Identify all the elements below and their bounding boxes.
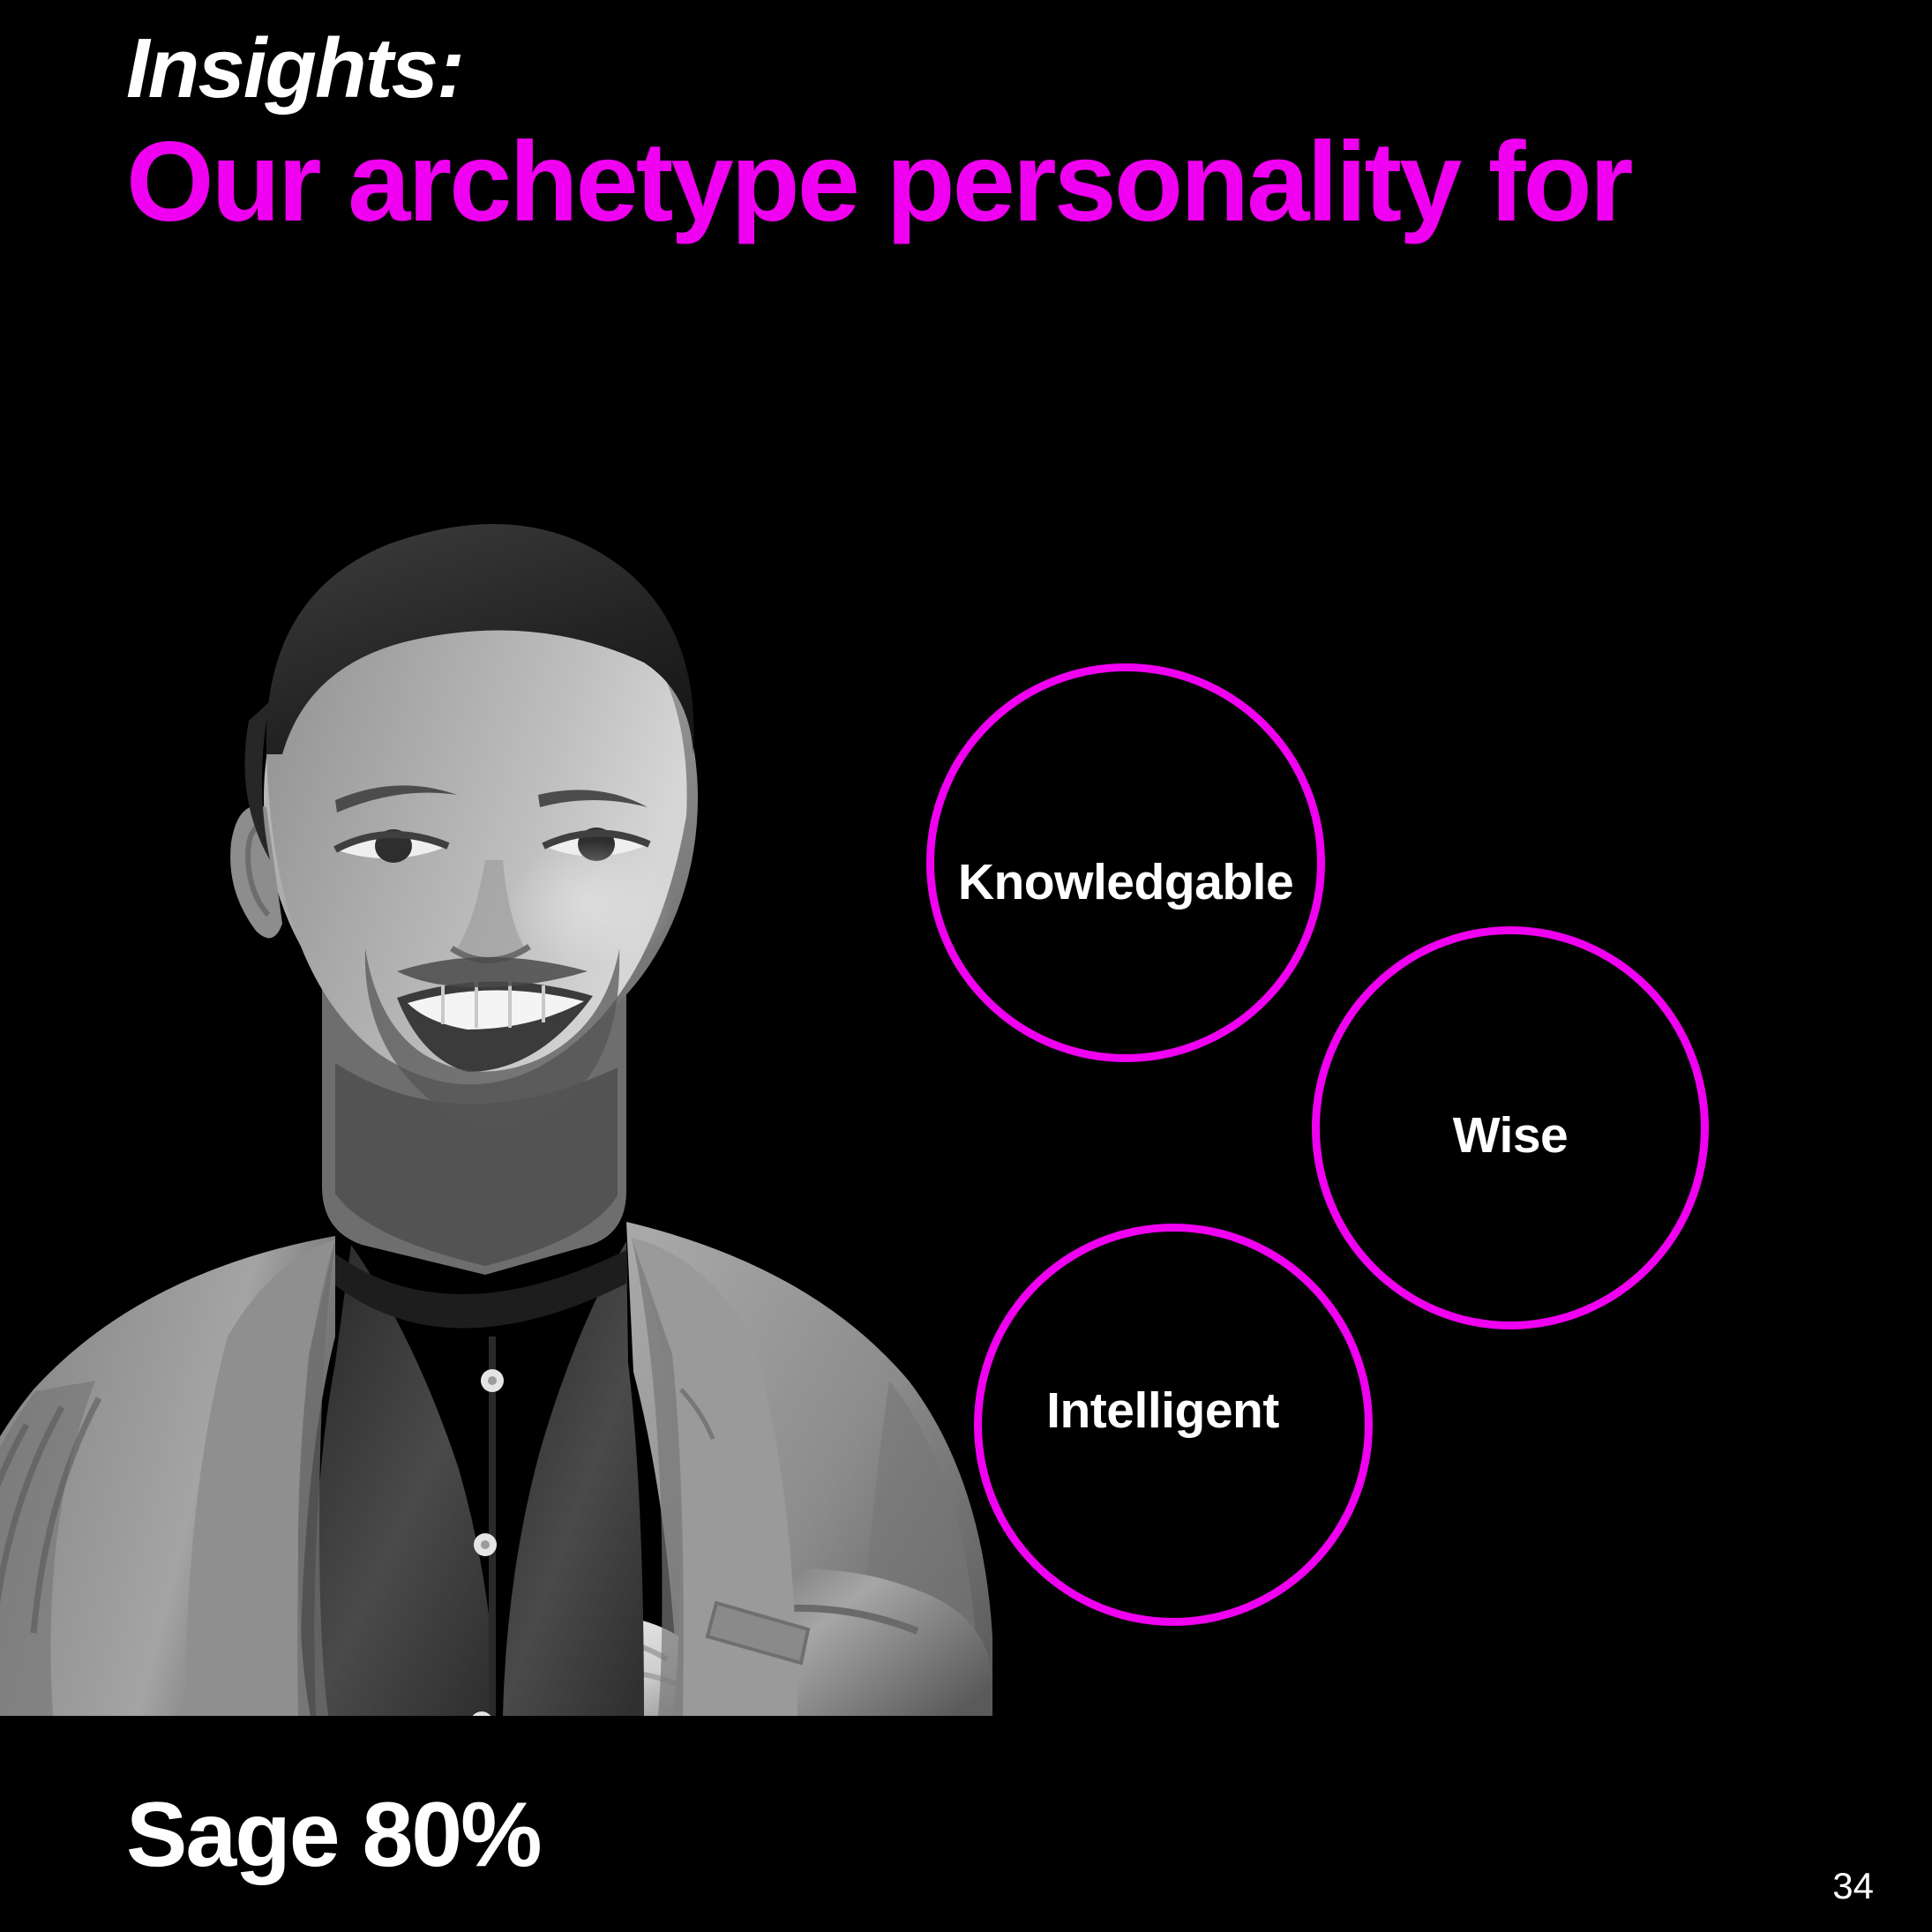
bubble-label-knowledgable: Knowledgable [958,853,1293,911]
bubble-knowledgable[interactable]: Knowledgable [926,663,1325,1062]
page-title: Our archetype personality for [126,124,1631,242]
page-number: 34 [1832,1865,1874,1907]
bubble-intelligent[interactable]: Intelligent [974,1224,1373,1626]
bubble-wise[interactable]: Wise [1312,926,1709,1329]
slide-root: Insights: Our archetype personality for [0,0,1932,1932]
archetype-score-label: Sage 80% [126,1783,541,1888]
portrait-photo [0,490,1015,1716]
bubble-label-intelligent: Intelligent [1046,1382,1279,1440]
slide-eyebrow: Insights: [126,25,463,114]
bubble-label-wise: Wise [1453,1106,1569,1164]
